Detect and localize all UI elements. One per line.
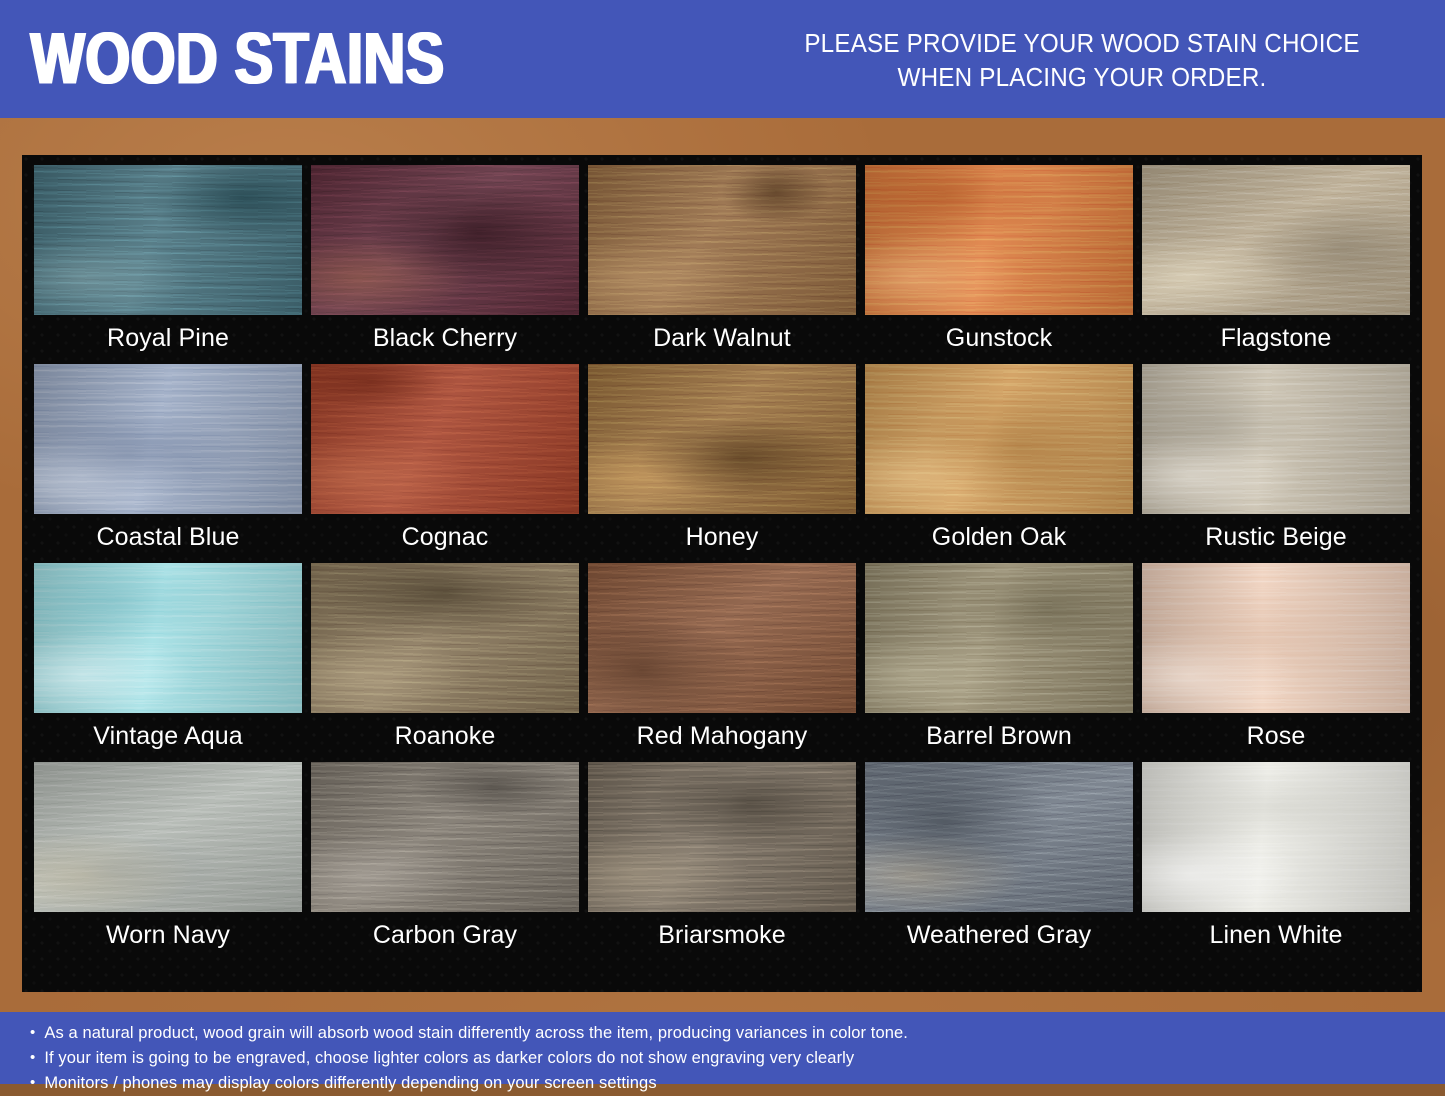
stain-label: Dark Walnut bbox=[588, 315, 856, 364]
stain-swatch-weathered-gray[interactable] bbox=[865, 762, 1133, 912]
swatch-color bbox=[311, 364, 579, 514]
page-footer: •As a natural product, wood grain will a… bbox=[0, 1012, 1445, 1084]
swatch-color bbox=[588, 364, 856, 514]
stain-label: Roanoke bbox=[311, 713, 579, 762]
swatch-color bbox=[311, 762, 579, 912]
header-subtitle: PLEASE PROVIDE YOUR WOOD STAIN CHOICE WH… bbox=[773, 28, 1391, 96]
stain-swatch-vintage-aqua[interactable] bbox=[34, 563, 302, 713]
label-line: Coastal BlueCognacHoneyGolden OakRustic … bbox=[30, 514, 1414, 563]
stain-label: Gunstock bbox=[865, 315, 1133, 364]
swatch-color bbox=[311, 563, 579, 713]
label-line: Royal PineBlack CherryDark WalnutGunstoc… bbox=[30, 315, 1414, 364]
bullet-icon: • bbox=[30, 1046, 35, 1069]
stain-swatch-rustic-beige[interactable] bbox=[1142, 364, 1410, 514]
stain-swatch-rose[interactable] bbox=[1142, 563, 1410, 713]
stain-swatch-flagstone[interactable] bbox=[1142, 165, 1410, 315]
swatch-color bbox=[865, 563, 1133, 713]
stain-swatch-dark-walnut[interactable] bbox=[588, 165, 856, 315]
stain-swatch-linen-white[interactable] bbox=[1142, 762, 1410, 912]
swatch-color bbox=[34, 364, 302, 514]
stain-label: Black Cherry bbox=[311, 315, 579, 364]
swatch-color bbox=[865, 165, 1133, 315]
swatch-color bbox=[588, 762, 856, 912]
swatch-line bbox=[30, 563, 1414, 713]
footer-note: •As a natural product, wood grain will a… bbox=[24, 1021, 1445, 1046]
swatch-color bbox=[588, 563, 856, 713]
stain-label: Honey bbox=[588, 514, 856, 563]
stain-swatch-roanoke[interactable] bbox=[311, 563, 579, 713]
stain-label: Weathered Gray bbox=[865, 912, 1133, 961]
stain-swatch-honey[interactable] bbox=[588, 364, 856, 514]
stain-swatch-carbon-gray[interactable] bbox=[311, 762, 579, 912]
stain-label: Red Mahogany bbox=[588, 713, 856, 762]
stain-swatch-black-cherry[interactable] bbox=[311, 165, 579, 315]
footer-note: •If your item is going to be engraved, c… bbox=[24, 1046, 1445, 1071]
swatch-line bbox=[30, 762, 1414, 912]
footer-note-text: If your item is going to be engraved, ch… bbox=[44, 1046, 854, 1071]
label-line: Worn NavyCarbon GrayBriarsmokeWeathered … bbox=[30, 912, 1414, 961]
bullet-icon: • bbox=[30, 1021, 35, 1044]
swatch-color bbox=[1142, 762, 1410, 912]
bullet-icon: • bbox=[30, 1071, 35, 1094]
swatch-line bbox=[30, 165, 1414, 315]
stain-swatch-golden-oak[interactable] bbox=[865, 364, 1133, 514]
stain-swatch-briarsmoke[interactable] bbox=[588, 762, 856, 912]
stain-row: Vintage AquaRoanokeRed MahoganyBarrel Br… bbox=[30, 563, 1414, 762]
page-title: WOOD STAINS bbox=[30, 17, 444, 101]
swatch-color bbox=[1142, 165, 1410, 315]
stain-row: Coastal BlueCognacHoneyGolden OakRustic … bbox=[30, 364, 1414, 563]
swatch-color bbox=[34, 563, 302, 713]
swatch-color bbox=[34, 165, 302, 315]
label-line: Vintage AquaRoanokeRed MahoganyBarrel Br… bbox=[30, 713, 1414, 762]
swatch-color bbox=[588, 165, 856, 315]
stain-swatch-gunstock[interactable] bbox=[865, 165, 1133, 315]
swatch-color bbox=[34, 762, 302, 912]
stain-label: Coastal Blue bbox=[34, 514, 302, 563]
stain-swatch-royal-pine[interactable] bbox=[34, 165, 302, 315]
swatch-color bbox=[311, 165, 579, 315]
swatch-line bbox=[30, 364, 1414, 514]
stain-label: Cognac bbox=[311, 514, 579, 563]
stain-label: Linen White bbox=[1142, 912, 1410, 961]
stain-row: Royal PineBlack CherryDark WalnutGunstoc… bbox=[30, 165, 1414, 364]
stain-label: Barrel Brown bbox=[865, 713, 1133, 762]
stain-row: Worn NavyCarbon GrayBriarsmokeWeathered … bbox=[30, 762, 1414, 961]
stain-chart-panel: Royal PineBlack CherryDark WalnutGunstoc… bbox=[22, 155, 1422, 992]
stain-label: Flagstone bbox=[1142, 315, 1410, 364]
stain-label: Briarsmoke bbox=[588, 912, 856, 961]
stain-swatch-worn-navy[interactable] bbox=[34, 762, 302, 912]
stain-swatch-coastal-blue[interactable] bbox=[34, 364, 302, 514]
swatch-color bbox=[865, 762, 1133, 912]
stain-label: Royal Pine bbox=[34, 315, 302, 364]
stain-label: Worn Navy bbox=[34, 912, 302, 961]
swatch-color bbox=[865, 364, 1133, 514]
page-header: WOOD STAINS PLEASE PROVIDE YOUR WOOD STA… bbox=[0, 0, 1445, 118]
stain-label: Golden Oak bbox=[865, 514, 1133, 563]
swatch-color bbox=[1142, 563, 1410, 713]
stain-swatch-red-mahogany[interactable] bbox=[588, 563, 856, 713]
stain-swatch-cognac[interactable] bbox=[311, 364, 579, 514]
swatch-color bbox=[1142, 364, 1410, 514]
stain-label: Rustic Beige bbox=[1142, 514, 1410, 563]
stain-label: Carbon Gray bbox=[311, 912, 579, 961]
stain-label: Vintage Aqua bbox=[34, 713, 302, 762]
footer-note-text: As a natural product, wood grain will ab… bbox=[44, 1021, 908, 1046]
stain-swatch-barrel-brown[interactable] bbox=[865, 563, 1133, 713]
stain-label: Rose bbox=[1142, 713, 1410, 762]
